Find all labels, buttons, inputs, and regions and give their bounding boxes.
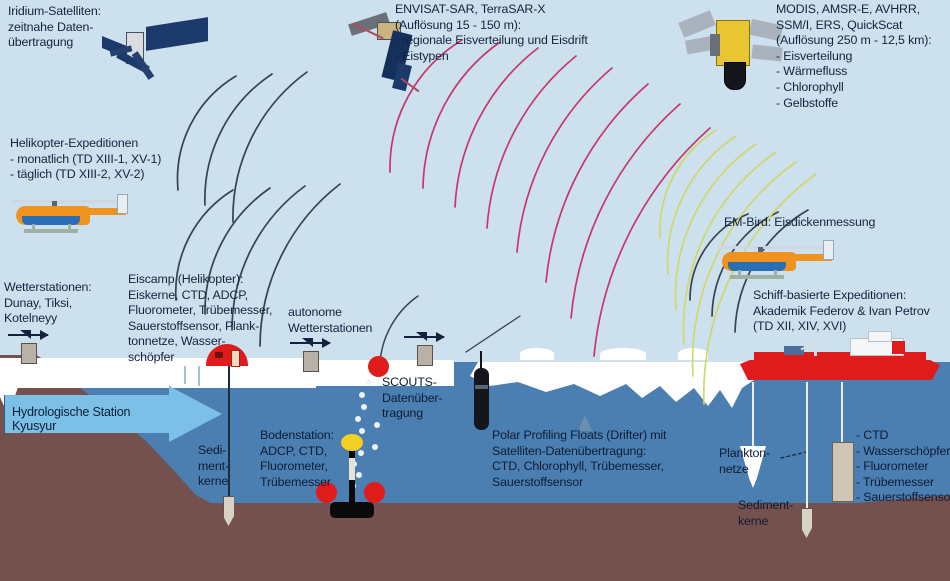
ice-ridge-1	[520, 348, 554, 360]
label-eiscamp: Eiscamp (Helikopter): Eiskerne, CTD, ADC…	[128, 272, 300, 366]
em-bird-helicopter-icon	[722, 238, 840, 282]
label-helicopter-expeditions: Helikopter-Expeditionen - monatlich (TD …	[10, 136, 240, 183]
label-scouts: SCOUTS- Datenüber- tragung	[382, 375, 486, 422]
ctd-rosette-icon	[832, 442, 854, 502]
diagram-canvas: Hydrologische Station Kyusyur Iridium-Sa…	[0, 0, 950, 581]
label-modis: MODIS, AMSR-E, AVHRR, SSM/I, ERS, QuickS…	[776, 2, 950, 111]
label-iridium: Iridium-Satelliten: zeitnahe Daten- über…	[8, 4, 198, 51]
modis-satellite-icon	[680, 10, 784, 96]
label-bottom-station: Bodenstation: ADCP, CTD, Fluorometer, Tr…	[260, 428, 380, 490]
hydrological-station-arrow: Hydrologische Station Kyusyur	[4, 386, 222, 442]
scouts-surface-buoy	[368, 356, 389, 377]
label-autonomous-weather: autonome Wetterstationen	[288, 305, 420, 336]
hydro-station-label: Hydrologische Station Kyusyur	[12, 405, 172, 433]
label-ctd-instrument-list: - CTD - Wasserschöpfer - Fluorometer - T…	[856, 428, 950, 506]
label-sediment-cores-left: Sedi- ment- kerne	[198, 443, 250, 490]
ctd-rosette-line	[841, 382, 843, 444]
ice-camp-line-1	[184, 366, 186, 384]
research-vessel-icon	[740, 334, 940, 382]
label-plankton-nets: Plankton- netze	[719, 446, 809, 477]
helicopter-expedition-icon	[16, 192, 134, 236]
label-sediment-cores-right: Sediment- kerne	[738, 498, 838, 529]
ice-ridge-3	[678, 348, 708, 360]
label-ship-expeditions: Schiff-basierte Expeditionen: Akademik F…	[753, 288, 950, 335]
label-em-bird: EM-Bird: Eisdickenmessung	[724, 215, 950, 231]
label-envisat: ENVISAT-SAR, TerraSAR-X (Auflösung 15 - …	[395, 2, 695, 64]
weather-station-icon-autonomous-2	[404, 332, 444, 364]
bottom-station-frame	[330, 502, 374, 518]
ice-camp-line-2	[198, 366, 200, 386]
ice-ridge-2	[600, 348, 646, 360]
weather-station-icon-coastal	[8, 330, 48, 362]
label-weather-stations: Wetterstationen: Dunay, Tiksi, Kotelneyy	[4, 280, 134, 327]
